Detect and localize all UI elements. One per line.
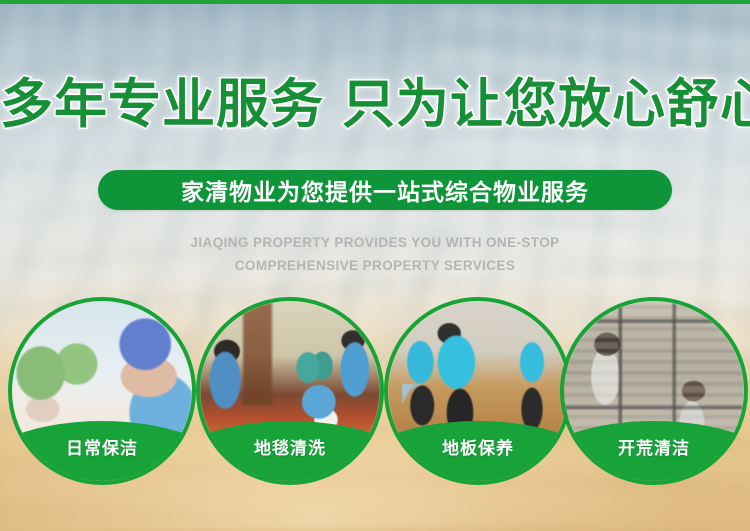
service-caption-band: 开荒清洁 bbox=[560, 421, 748, 485]
english-subtitle: JIAQING PROPERTY PROVIDES YOU WITH ONE-S… bbox=[0, 231, 750, 277]
subtitle-line-2: COMPREHENSIVE PROPERTY SERVICES bbox=[0, 254, 750, 277]
service-circle-floor-maintenance[interactable]: 地板保养 bbox=[384, 297, 572, 485]
service-circle-rough-cleaning[interactable]: 开荒清洁 bbox=[560, 297, 748, 485]
subtitle-line-1: JIAQING PROPERTY PROVIDES YOU WITH ONE-S… bbox=[0, 231, 750, 254]
service-circle-daily-cleaning[interactable]: 日常保洁 bbox=[8, 297, 196, 485]
promo-banner: 多年专业服务只为让您放心舒心 家清物业为您提供一站式综合物业服务 JIAQING… bbox=[0, 0, 750, 531]
service-label: 地毯清洗 bbox=[254, 434, 326, 459]
tagline-pill: 家清物业为您提供一站式综合物业服务 bbox=[98, 170, 672, 210]
service-label: 开荒清洁 bbox=[618, 434, 690, 459]
service-label: 日常保洁 bbox=[66, 434, 138, 459]
service-caption-band: 地板保养 bbox=[384, 421, 572, 485]
service-circle-carpet-cleaning[interactable]: 地毯清洗 bbox=[196, 297, 384, 485]
page-title: 多年专业服务只为让您放心舒心 bbox=[0, 78, 750, 131]
headline-part-2: 只为让您放心舒心 bbox=[342, 74, 750, 135]
headline-part-1: 多年专业服务 bbox=[0, 74, 324, 135]
service-caption-band: 日常保洁 bbox=[8, 421, 196, 485]
top-green-rule bbox=[0, 0, 750, 4]
service-caption-band: 地毯清洗 bbox=[196, 421, 384, 485]
tagline-text: 家清物业为您提供一站式综合物业服务 bbox=[181, 173, 589, 207]
service-label: 地板保养 bbox=[442, 434, 514, 459]
